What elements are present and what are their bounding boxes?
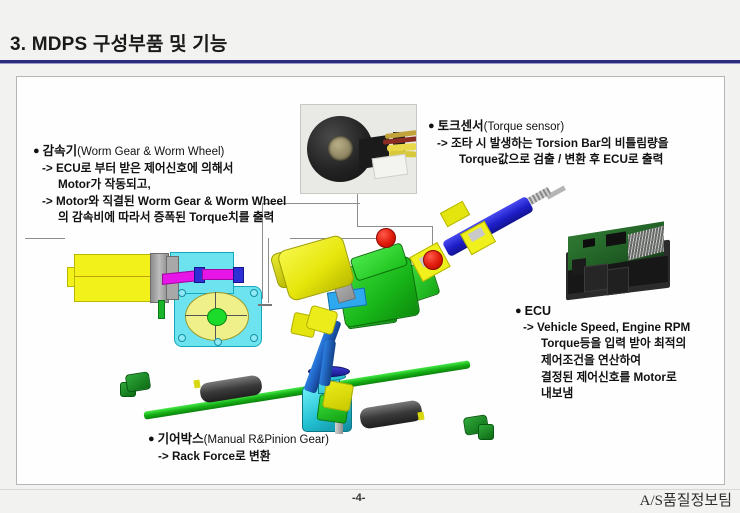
callout-worm-gear: ●감속기(Worm Gear & Worm Wheel) -> ECU로 부터 …: [33, 143, 286, 227]
page-number: -4-: [352, 492, 365, 504]
red-dot-motor: [376, 228, 396, 248]
sensor-white-connector: [372, 154, 409, 180]
callout-worm-line-2: Motor가 작동되고,: [33, 177, 286, 194]
callout-torque-line-2: Torque값으로 검출 / 변환 후 ECU로 출력: [428, 152, 668, 169]
tie-rod-end-left: [125, 371, 152, 393]
title-divider-light: [0, 63, 740, 64]
callout-gear-heading: ●기어박스(Manual R&Pinion Gear): [148, 431, 329, 449]
column-bracket-upper: [440, 201, 470, 228]
callout-worm-heading-ko: 감속기: [43, 144, 78, 158]
callout-gear-line-1: -> Rack Force로 변환: [148, 449, 329, 466]
callout-ecu-line-1: -> Vehicle Speed, Engine RPM: [515, 320, 690, 337]
callout-ecu: ●ECU -> Vehicle Speed, Engine RPM Torque…: [515, 303, 690, 403]
callout-gear-box: ●기어박스(Manual R&Pinion Gear) -> Rack Forc…: [148, 431, 329, 465]
callout-ecu-heading: ●ECU: [515, 303, 690, 320]
callout-worm-heading-en: (Worm Gear & Worm Wheel): [77, 146, 224, 158]
footer-divider: [0, 489, 740, 490]
callout-ecu-line-5: 내보냄: [515, 386, 690, 403]
callout-ecu-line-4: 결정된 제어신호를 Motor로: [515, 370, 690, 387]
rack-boot-right: [359, 399, 424, 429]
slide-canvas: 3. MDPS 구성부품 및 기능: [0, 0, 740, 513]
callout-ecu-line-3: 제어조건을 연산하여: [515, 353, 690, 370]
torque-sensor-photo: [300, 104, 417, 194]
tie-rod-end-right-joint: [478, 424, 494, 440]
sensor-bore: [328, 136, 353, 161]
callout-torque-heading: ●토크센서(Torque sensor): [428, 118, 668, 136]
leader-line-motor-left: [25, 238, 65, 239]
page-title: 3. MDPS 구성부품 및 기능: [10, 29, 228, 56]
callout-gear-heading-en: (Manual R&Pinion Gear): [204, 434, 329, 446]
callout-ecu-line-2: Torque등을 입력 받아 최적의: [515, 336, 690, 353]
bullet-icon: ●: [148, 433, 155, 445]
boot-clip-right: [417, 412, 424, 421]
bullet-icon: ●: [428, 120, 435, 132]
callout-gear-heading-ko: 기어박스: [158, 432, 204, 446]
red-dot-torque-sensor: [423, 250, 443, 270]
footer-team-label: A/S품질정보팀: [640, 489, 732, 510]
callout-torque-heading-en: (Torque sensor): [484, 121, 565, 133]
bullet-icon: ●: [33, 145, 40, 157]
boot-clip-left: [193, 380, 200, 389]
callout-ecu-heading-ko: ECU: [525, 304, 551, 318]
callout-worm-heading: ●감속기(Worm Gear & Worm Wheel): [33, 143, 286, 161]
callout-torque-heading-ko: 토크센서: [438, 119, 484, 133]
bullet-icon: ●: [515, 305, 522, 317]
callout-torque-sensor: ●토크센서(Torque sensor) -> 조타 시 발생하는 Torsio…: [428, 118, 668, 169]
callout-worm-line-3: -> Motor와 직결된 Worm Gear & Worm Wheel: [33, 194, 286, 211]
callout-torque-line-1: -> 조타 시 발생하는 Torsion Bar의 비틀림량을: [428, 136, 668, 153]
callout-worm-line-4: 의 감속비에 따라서 증폭된 Torque치를 출력: [33, 210, 286, 227]
callout-worm-line-1: -> ECU로 부터 받은 제어신호에 의해서: [33, 161, 286, 178]
